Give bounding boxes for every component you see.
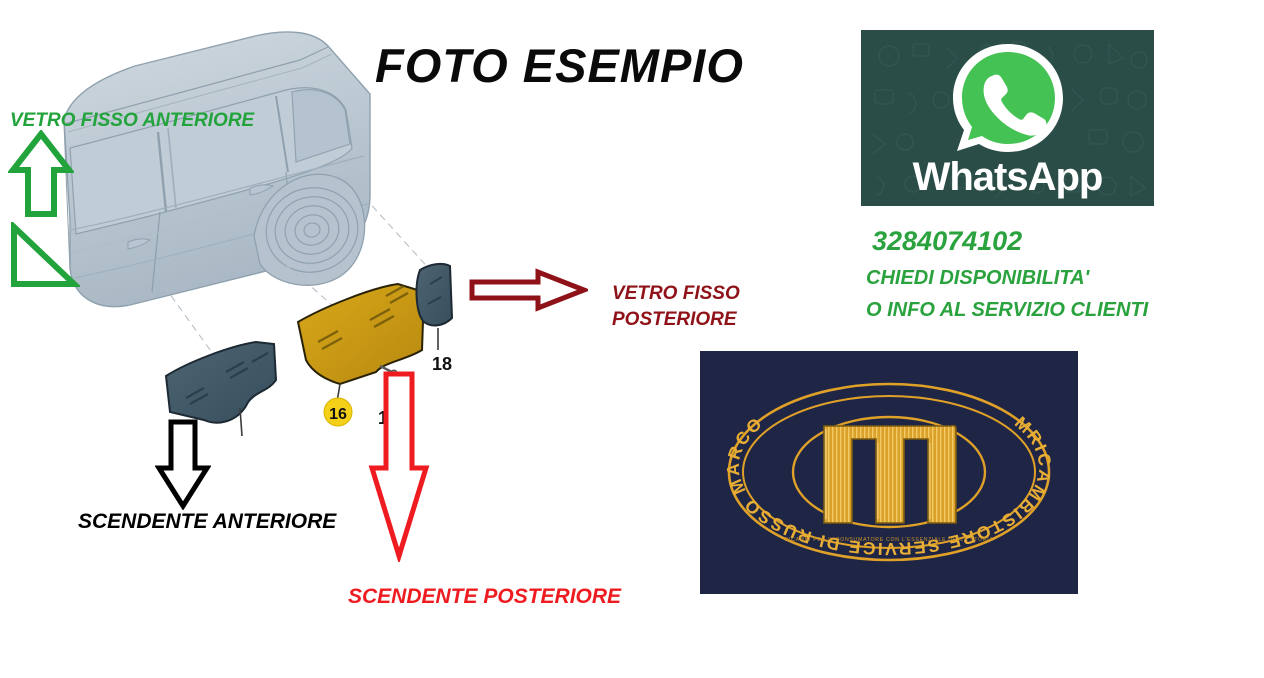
mricambistore-logo: MRICAMBISTORE SERVICE DI RUSSO MARCO RIC… bbox=[700, 351, 1078, 594]
whatsapp-phone-number: 3284074102 bbox=[872, 226, 1022, 257]
shop-logo-banner: MRICAMBISTORE SERVICE DI RUSSO MARCO RIC… bbox=[700, 351, 1078, 594]
down-arrow-black-icon bbox=[155, 418, 211, 510]
label-scendente-anteriore: SCENDENTE ANTERIORE bbox=[78, 510, 336, 534]
contact-line-availability: CHIEDI DISPONIBILITA' bbox=[866, 267, 1089, 290]
part-18-glass: 18 bbox=[417, 264, 453, 374]
logo-fine-print: RICAMBI PER IL CONSUMATORE CON L'ESSENZI… bbox=[785, 537, 994, 543]
label-vetro-fisso-posteriore: VETRO FISSO POSTERIORE bbox=[612, 281, 740, 332]
triangle-green-icon bbox=[8, 222, 80, 290]
whatsapp-phone-bubble-icon bbox=[947, 38, 1069, 160]
label-vetro-fisso-posteriore-line1: VETRO FISSO bbox=[612, 281, 740, 307]
whatsapp-banner: WhatsApp bbox=[861, 30, 1154, 206]
label-vetro-fisso-anteriore: VETRO FISSO ANTERIORE bbox=[10, 110, 254, 132]
right-arrow-dark-red-icon bbox=[468, 268, 588, 312]
car-exploded-diagram: 14 16 17 18 bbox=[40, 20, 510, 440]
svg-text:16: 16 bbox=[329, 406, 347, 423]
label-vetro-fisso-posteriore-line2: POSTERIORE bbox=[612, 307, 740, 333]
down-arrow-red-icon bbox=[368, 370, 430, 562]
label-scendente-posteriore: SCENDENTE POSTERIORE bbox=[348, 585, 621, 609]
svg-text:18: 18 bbox=[432, 354, 452, 374]
poster-canvas: FOTO ESEMPIO bbox=[0, 0, 1264, 678]
whatsapp-wordmark: WhatsApp bbox=[861, 155, 1154, 200]
logo-monogram bbox=[824, 426, 956, 523]
contact-line-customer-service: O INFO AL SERVIZIO CLIENTI bbox=[866, 299, 1148, 322]
car-body-outline bbox=[64, 32, 370, 307]
up-arrow-green-icon bbox=[8, 130, 74, 218]
